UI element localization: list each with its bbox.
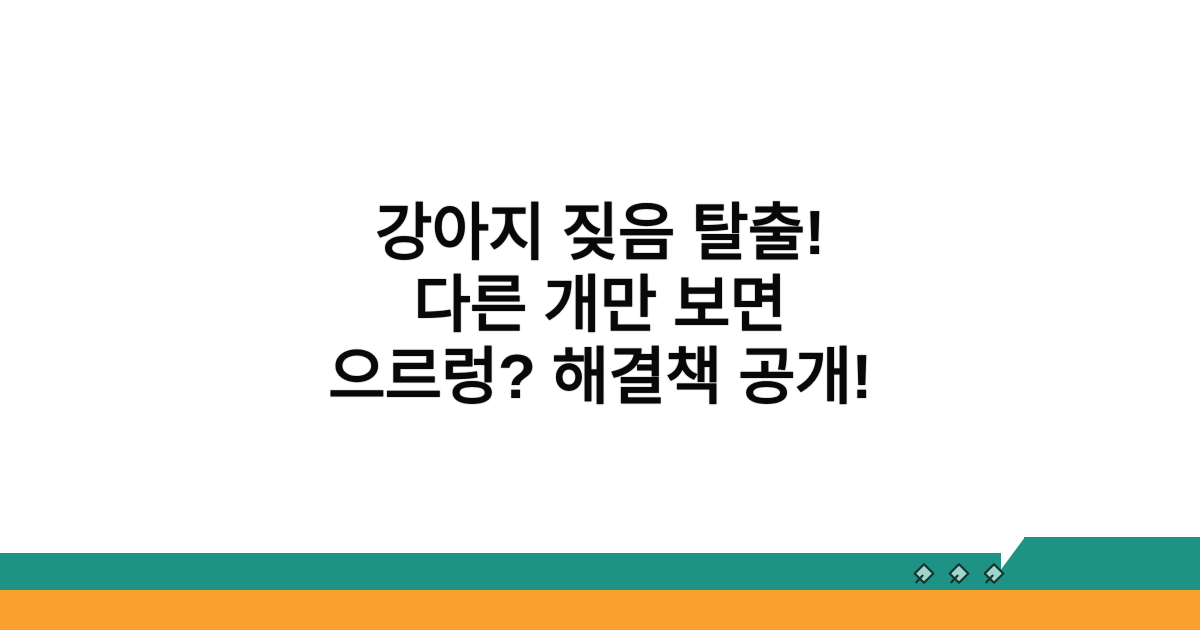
title-line-1: 강아지 짖음 탈출! <box>0 198 1200 270</box>
title-line-3: 으르렁? 해결책 공개! <box>0 342 1200 414</box>
diamond-decoration-group <box>911 561 1011 587</box>
teal-accent-band <box>0 553 1001 590</box>
diamond-sparkle-icon <box>981 561 1007 587</box>
title-line-2: 다른 개만 보면 <box>0 270 1200 342</box>
thumbnail-card: 강아지 짖음 탈출! 다른 개만 보면 으르렁? 해결책 공개! <box>0 0 1200 630</box>
orange-accent-band <box>0 590 1200 630</box>
diamond-sparkle-icon <box>911 561 937 587</box>
page-title: 강아지 짖음 탈출! 다른 개만 보면 으르렁? 해결책 공개! <box>0 198 1200 414</box>
diamond-sparkle-icon <box>946 561 972 587</box>
teal-accent-band-step <box>1024 537 1200 590</box>
